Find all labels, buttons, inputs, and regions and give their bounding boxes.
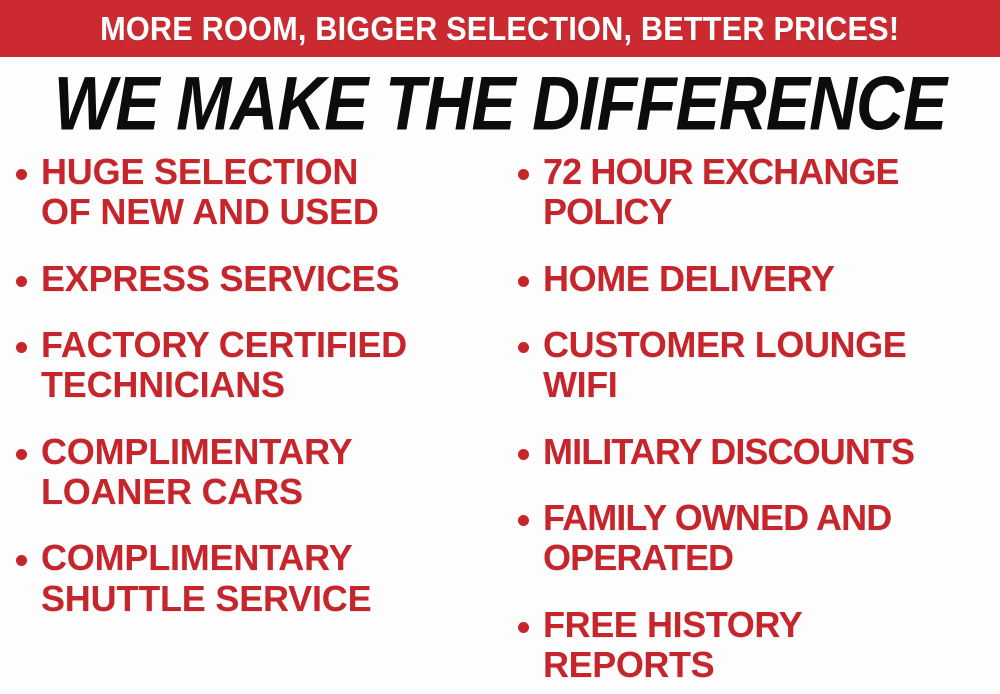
bullet-dot-icon (518, 342, 529, 353)
list-item: CUSTOMER LOUNGE WIFI (518, 325, 1000, 406)
bullet-dot-icon (16, 555, 27, 566)
benefits-column-left: HUGE SELECTION OF NEW AND USED EXPRESS S… (0, 152, 500, 694)
list-item: MILITARY DISCOUNTS (518, 432, 1000, 472)
list-item-label: COMPLIMENTARY SHUTTLE SERVICE (41, 538, 371, 619)
list-item: FACTORY CERTIFIED TECHNICIANS (16, 325, 500, 406)
list-item: FREE HISTORY REPORTS (518, 605, 1000, 686)
bullet-dot-icon (518, 622, 529, 633)
list-item-label: FAMILY OWNED AND OPERATED (543, 498, 891, 579)
main-headline-container: WE MAKE THE DIFFERENCE (0, 60, 1000, 148)
banner-headline-text: MORE ROOM, BIGGER SELECTION, BETTER PRIC… (100, 12, 899, 45)
list-item-label: FACTORY CERTIFIED TECHNICIANS (41, 325, 407, 406)
list-item-label: 72 HOUR EXCHANGE POLICY (543, 152, 899, 233)
bullet-dot-icon (16, 276, 27, 287)
list-item-label: MILITARY DISCOUNTS (543, 432, 914, 472)
list-item: 72 HOUR EXCHANGE POLICY (518, 152, 1000, 233)
advertisement-poster: MORE ROOM, BIGGER SELECTION, BETTER PRIC… (0, 0, 1000, 694)
list-item: HOME DELIVERY (518, 259, 1000, 299)
list-item: FAMILY OWNED AND OPERATED (518, 498, 1000, 579)
benefits-column-right: 72 HOUR EXCHANGE POLICY HOME DELIVERY CU… (500, 152, 1000, 694)
bullet-dot-icon (518, 515, 529, 526)
list-item-label: HUGE SELECTION OF NEW AND USED (41, 152, 379, 233)
bullet-dot-icon (16, 449, 27, 460)
list-item-label: FREE HISTORY REPORTS (543, 605, 802, 686)
bullet-dot-icon (518, 169, 529, 180)
bullet-dot-icon (16, 342, 27, 353)
list-item: EXPRESS SERVICES (16, 259, 500, 299)
bullet-dot-icon (518, 449, 529, 460)
page-title: WE MAKE THE DIFFERENCE (54, 66, 946, 142)
list-item: HUGE SELECTION OF NEW AND USED (16, 152, 500, 233)
list-item-label: EXPRESS SERVICES (41, 259, 399, 299)
top-banner: MORE ROOM, BIGGER SELECTION, BETTER PRIC… (0, 0, 1000, 57)
list-item: COMPLIMENTARY SHUTTLE SERVICE (16, 538, 500, 619)
list-item-label: CUSTOMER LOUNGE WIFI (543, 325, 906, 406)
list-item-label: HOME DELIVERY (543, 259, 835, 299)
bullet-dot-icon (16, 169, 27, 180)
benefits-columns: HUGE SELECTION OF NEW AND USED EXPRESS S… (0, 152, 1000, 694)
list-item-label: COMPLIMENTARY LOANER CARS (41, 432, 352, 513)
bullet-dot-icon (518, 276, 529, 287)
list-item: COMPLIMENTARY LOANER CARS (16, 432, 500, 513)
